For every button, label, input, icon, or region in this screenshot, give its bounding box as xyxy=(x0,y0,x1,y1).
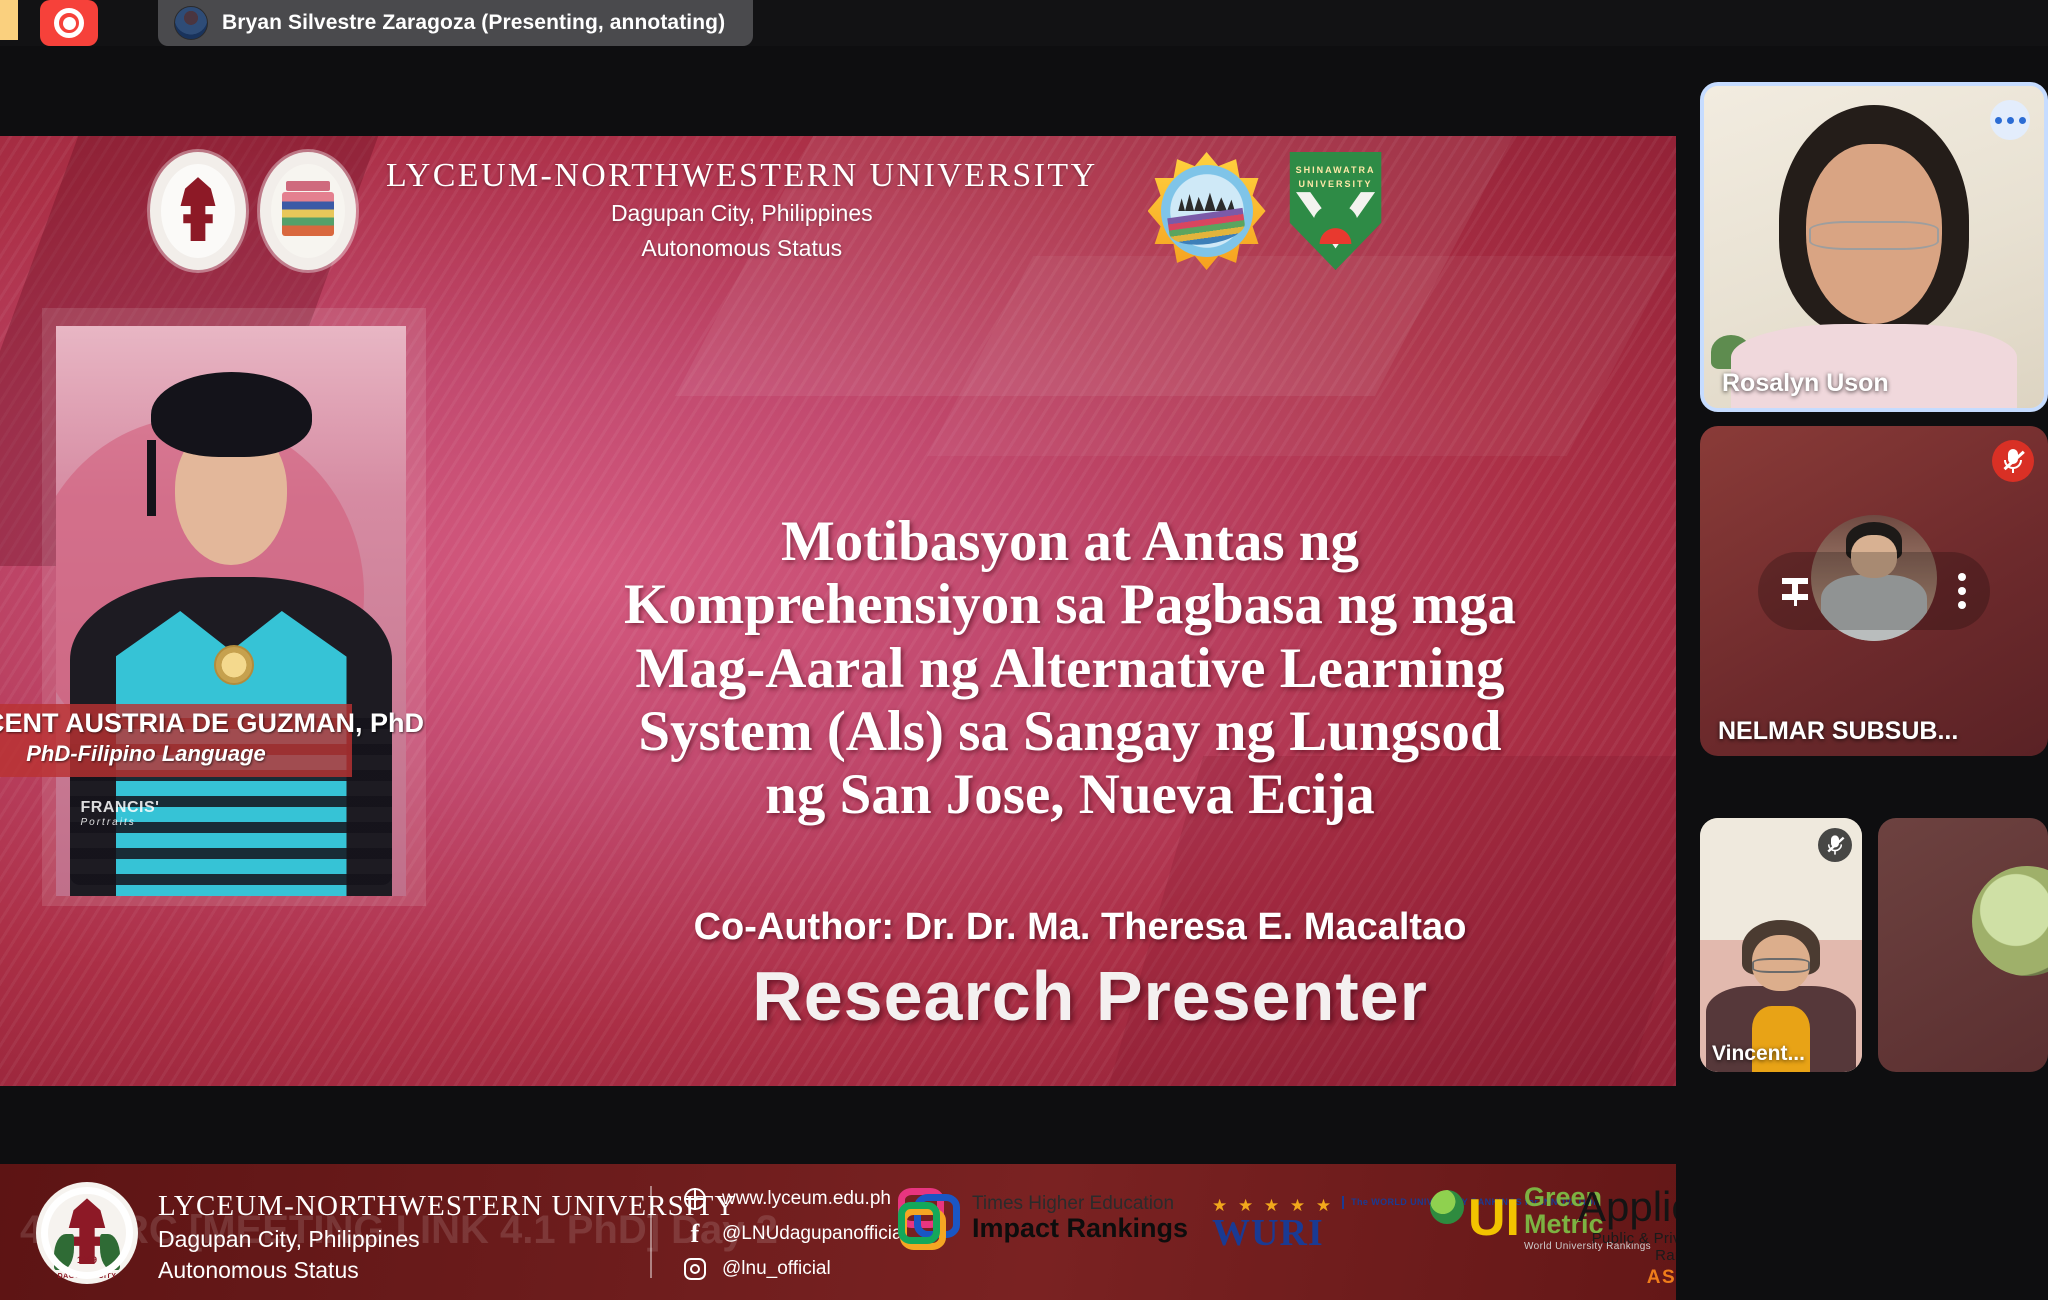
presenter-photo-card: FRANCIS' Portraits xyxy=(56,326,406,896)
slide-header: LYCEUM-NORTHWESTERN UNIVERSITY Dagupan C… xyxy=(150,152,1388,270)
slide-role-label: Research Presenter xyxy=(560,956,1620,1036)
participant-tile-rosalyn-uson[interactable]: Rosalyn Uson xyxy=(1700,82,2048,412)
participant-rail: Rosalyn Uson NELMAR SUBSUB... xyxy=(1700,82,2048,756)
facebook-icon: f xyxy=(682,1221,708,1247)
greenmetric-globe-icon xyxy=(1430,1190,1464,1224)
social-row-instagram[interactable]: @lnu_official xyxy=(682,1256,907,1282)
slide-title: Motibasyon at Antas ng Komprehensiyon sa… xyxy=(540,510,1600,826)
the-line-2: Impact Rankings xyxy=(972,1213,1188,1244)
presenter-name: VINCENT AUSTRIA DE GUZMAN, PhD xyxy=(0,708,352,739)
shinawatra-label: SHINAWATRA UNIVERSITY xyxy=(1284,164,1388,191)
participant-name-label: NELMAR SUBSUB... xyxy=(1718,717,1958,746)
footer-social-list: www.lyceum.edu.ph f @LNUdagupanofficial … xyxy=(682,1186,907,1282)
social-row-facebook[interactable]: f @LNUdagupanofficial xyxy=(682,1221,907,1247)
globe-icon xyxy=(682,1186,708,1212)
participant-tile-nelmar[interactable]: NELMAR SUBSUB... xyxy=(1700,426,2048,756)
presenter-name-band: VINCENT AUSTRIA DE GUZMAN, PhD PhD-Filip… xyxy=(0,704,352,777)
shinawatra-university-logo-icon: SHINAWATRA UNIVERSITY xyxy=(1284,152,1388,270)
instagram-icon xyxy=(682,1256,708,1282)
slide-university-status: Autonomous Status xyxy=(386,233,1098,264)
meeting-window: Bryan Silvestre Zaragoza (Presenting, an… xyxy=(0,0,2048,1300)
slide-coauthor: Co-Author: Dr. Dr. Ma. Theresa E. Macalt… xyxy=(560,906,1600,949)
photo-watermark-text: FRANCIS' xyxy=(81,799,160,816)
participant-tile-vincent[interactable]: Vincent... xyxy=(1700,818,1862,1072)
kebab-menu-icon[interactable] xyxy=(1958,573,1966,609)
tile-hover-controls[interactable] xyxy=(1758,552,1990,630)
slide-university-city: Dagupan City, Philippines xyxy=(386,198,1098,229)
the-line-1: Times Higher Education xyxy=(972,1194,1188,1213)
left-edge-sliver xyxy=(0,0,18,40)
pin-icon[interactable] xyxy=(1782,576,1808,606)
recording-indicator-button[interactable] xyxy=(40,0,98,46)
ahe-applied: Applied xyxy=(1578,1183,1676,1230)
instagram-handle: @lnu_official xyxy=(722,1258,831,1280)
times-higher-education-logo: Times Higher Education Impact Rankings xyxy=(898,1188,1188,1250)
presenter-degree: PhD-Filipino Language xyxy=(0,741,352,767)
lnu-igps-seal-icon xyxy=(260,152,356,270)
presenter-avatar xyxy=(174,6,208,40)
lnu-footer-seal-icon: 1969 DAGUPAN CITY xyxy=(36,1182,138,1284)
slide-title-line-4: System (Als) sa Sangay ng Lungsod xyxy=(540,700,1600,763)
mic-muted-icon xyxy=(1818,828,1852,862)
ahe-asean: ASEAN xyxy=(1578,1267,1676,1289)
slide-university-block: LYCEUM-NORTHWESTERN UNIVERSITY Dagupan C… xyxy=(386,158,1098,264)
the-impact-rankings-icon xyxy=(898,1188,960,1250)
website-text: www.lyceum.edu.ph xyxy=(722,1188,891,1210)
social-row-website[interactable]: www.lyceum.edu.ph xyxy=(682,1186,907,1212)
slide-decor-sheen-b xyxy=(927,256,1673,456)
uigm-ui-mark: UI xyxy=(1468,1196,1520,1240)
appliedhe-logo: AppliedHE™ Public & Private University R… xyxy=(1578,1186,1676,1289)
international-conference-logo-icon xyxy=(1148,152,1266,270)
ahe-sub: Public & Private University Ranking xyxy=(1578,1230,1676,1264)
slide-title-line-2: Komprehensiyon sa Pagbasa ng mga xyxy=(540,573,1600,636)
slide-title-line-1: Motibasyon at Antas ng xyxy=(540,510,1600,573)
photo-watermark: FRANCIS' Portraits xyxy=(81,799,160,828)
presenter-photo: FRANCIS' Portraits xyxy=(56,326,406,896)
slide-partner-logos: SHINAWATRA UNIVERSITY xyxy=(1148,152,1388,270)
photo-watermark-sub: Portraits xyxy=(81,817,160,828)
mic-muted-icon xyxy=(1992,440,2034,482)
participant-rail-bottom-row: Vincent... xyxy=(1700,818,2048,1072)
presenting-status-pill[interactable]: Bryan Silvestre Zaragoza (Presenting, an… xyxy=(158,0,753,46)
slide-university-name: LYCEUM-NORTHWESTERN UNIVERSITY xyxy=(386,158,1098,194)
presenter-status-label: Bryan Silvestre Zaragoza (Presenting, an… xyxy=(222,11,725,35)
participant-name-label: Rosalyn Uson xyxy=(1722,369,1889,398)
facebook-handle: @LNUdagupanofficial xyxy=(722,1223,907,1245)
footer-divider xyxy=(650,1186,652,1278)
record-icon xyxy=(54,8,84,38)
lnu-seal-icon xyxy=(150,152,246,270)
tile-more-options-icon[interactable] xyxy=(1990,100,2030,140)
participant-tile-partial[interactable] xyxy=(1878,818,2048,1072)
shared-screen-slide[interactable]: LYCEUM-NORTHWESTERN UNIVERSITY Dagupan C… xyxy=(0,136,1676,1086)
slide-title-line-3: Mag-Aaral ng Alternative Learning xyxy=(540,637,1600,700)
wuri-wordmark: WURI xyxy=(1212,1216,1334,1251)
participant-name-label: Vincent... xyxy=(1712,1042,1805,1066)
slide-footer-banner: 42 IMRC [MEETING LINK 4.1 PhD] Day 2 196… xyxy=(0,1164,1676,1300)
slide-title-line-5: ng San Jose, Nueva Ecija xyxy=(540,763,1600,826)
top-bar: Bryan Silvestre Zaragoza (Presenting, an… xyxy=(0,0,2048,46)
avatar xyxy=(1972,866,2048,976)
